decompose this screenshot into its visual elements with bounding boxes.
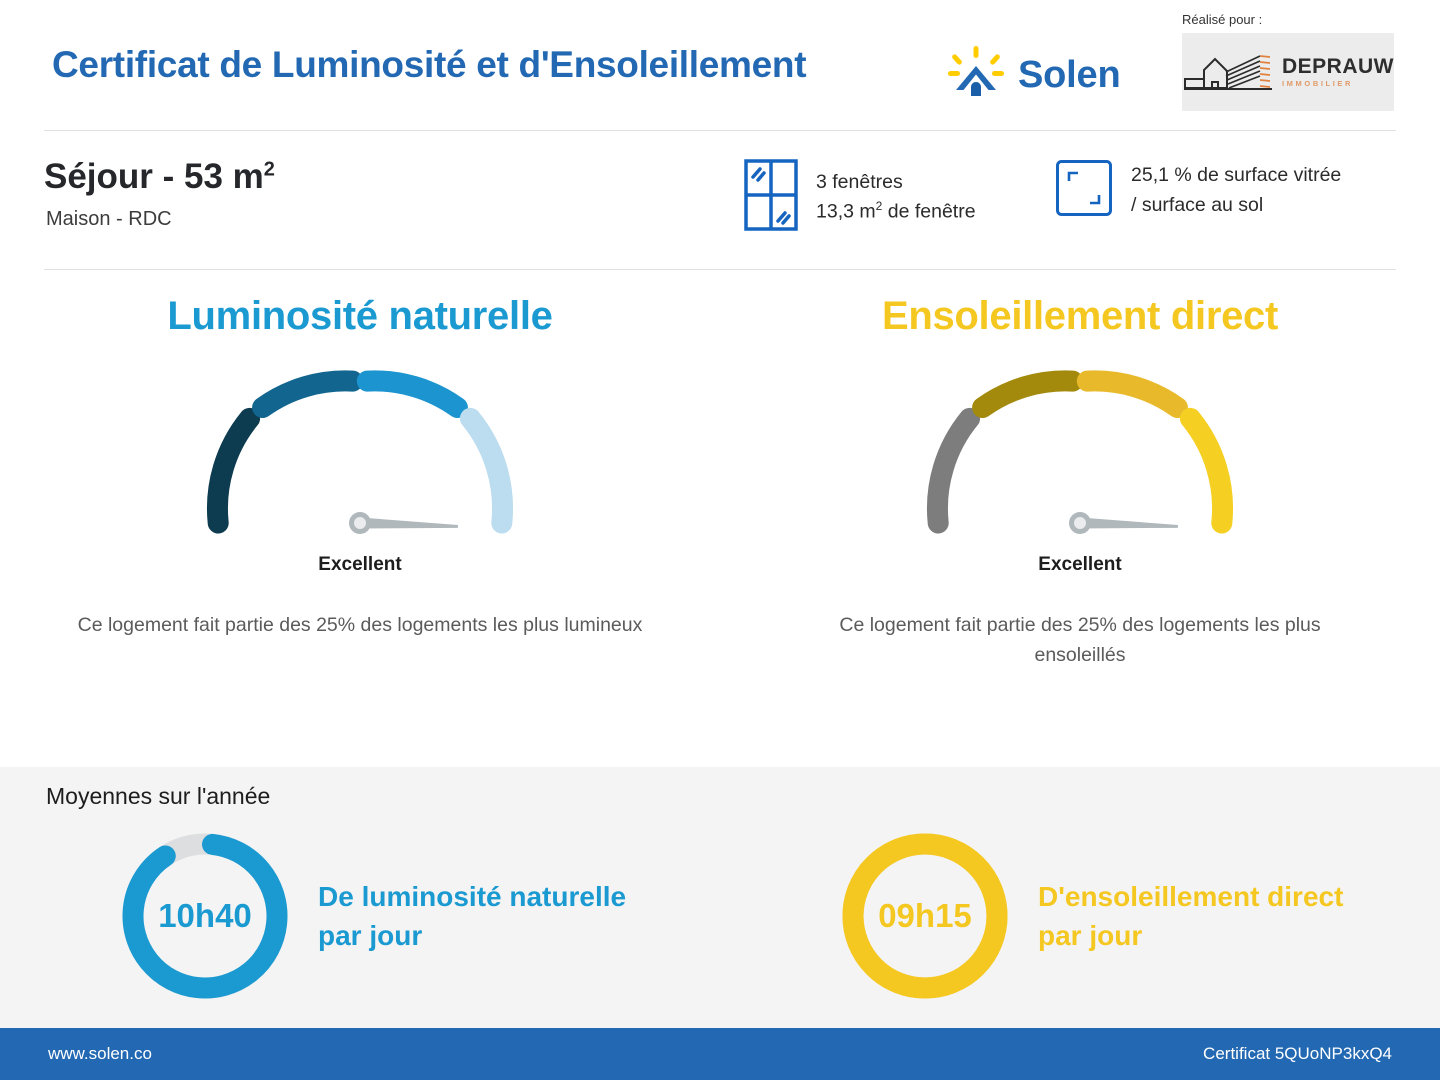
footer-website[interactable]: www.solen.co (48, 1044, 152, 1064)
partner-logo: DEPRAUW IMMOBILIER (1182, 33, 1394, 111)
gauge-rating-ensoleillement: Excellent (1038, 554, 1121, 576)
gauge-chart-ensoleillement (900, 351, 1260, 546)
stat-window-area-suffix: de fenêtre (882, 201, 975, 223)
averages-section: Moyennes sur l'année 10h40 De luminosité… (0, 767, 1440, 1028)
gauge-needle-ensoleillement (1069, 512, 1179, 538)
donut-value-luminosite: 10h40 (118, 829, 292, 1003)
average-label-ensoleillement: D'ensoleillement direct par jour (1038, 877, 1343, 955)
room-title-text: Séjour - 53 m (44, 157, 264, 196)
page-header: Certificat de Luminosité et d'Ensoleille… (0, 0, 1440, 130)
room-title: Séjour - 53 m2 (44, 157, 275, 197)
gauge-title-ensoleillement: Ensoleillement direct (882, 294, 1278, 339)
gauge-segment-3 (1087, 381, 1177, 408)
stat-glazing-line1: 25,1 % de surface vitrée (1131, 161, 1341, 190)
averages-title: Moyennes sur l'année (46, 783, 270, 810)
gauge-needle-luminosite (349, 512, 459, 538)
gauge-rating-luminosite: Excellent (318, 554, 401, 576)
certificate-page: Certificat de Luminosité et d'Ensoleille… (0, 0, 1440, 1080)
gauge-segment-4 (1190, 418, 1222, 523)
partner-name: DEPRAUW (1282, 56, 1394, 77)
stat-windows-text: 3 fenêtres 13,3 m2 de fenêtre (816, 168, 976, 227)
window-icon (744, 159, 798, 236)
page-title: Certificat de Luminosité et d'Ensoleille… (52, 44, 806, 86)
solen-brand: Solen (948, 46, 1120, 105)
average-label-luminosite: De luminosité naturelle par jour (318, 877, 626, 955)
average-label-line2: par jour (1038, 916, 1343, 955)
footer-certificate-id: Certificat 5QUoNP3kxQ4 (1203, 1044, 1392, 1064)
stat-glazing-text: 25,1 % de surface vitrée / surface au so… (1131, 161, 1341, 220)
average-item-ensoleillement: 09h15 D'ensoleillement direct par jour (720, 829, 1440, 1003)
gauge-segment-2 (263, 381, 353, 408)
gauge-title-luminosite: Luminosité naturelle (167, 294, 552, 339)
sun-house-icon (948, 46, 1004, 105)
average-item-luminosite: 10h40 De luminosité naturelle par jour (0, 829, 720, 1003)
gauge-ensoleillement: Ensoleillement direct Excel (720, 270, 1440, 767)
partner-caption: Réalisé pour : (1182, 12, 1394, 27)
room-title-exponent: 2 (264, 158, 275, 180)
gauges-section: Luminosité naturelle Excell (0, 270, 1440, 767)
donut-value-ensoleillement: 09h15 (838, 829, 1012, 1003)
averages-items: 10h40 De luminosité naturelle par jour 0… (0, 829, 1440, 1003)
gauge-segment-4 (470, 418, 502, 523)
gauge-segment-2 (983, 381, 1073, 408)
stat-glazing-ratio: 25,1 % de surface vitrée / surface au so… (1055, 159, 1341, 222)
average-label-line2: par jour (318, 916, 626, 955)
gauge-segment-3 (367, 381, 457, 408)
gauge-segment-1 (217, 418, 249, 523)
gauge-description-ensoleillement: Ce logement fait partie des 25% des loge… (795, 610, 1365, 670)
gauge-luminosite: Luminosité naturelle Excell (0, 270, 720, 767)
partner-subtitle: IMMOBILIER (1282, 80, 1394, 88)
brand-name: Solen (1018, 54, 1120, 97)
stat-window-area-value: 13,3 m (816, 201, 876, 223)
partner-block: Réalisé pour : (1182, 12, 1394, 111)
stat-windows: 3 fenêtres 13,3 m2 de fenêtre (744, 159, 976, 236)
stat-windows-line2: 13,3 m2 de fenêtre (816, 197, 976, 227)
stat-windows-line1: 3 fenêtres (816, 168, 976, 197)
room-info-section: Séjour - 53 m2 Maison - RDC 3 f (0, 131, 1440, 269)
gauge-description-luminosite: Ce logement fait partie des 25% des loge… (75, 610, 645, 640)
stat-glazing-line2: / surface au sol (1131, 191, 1341, 220)
donut-ensoleillement: 09h15 (838, 829, 1012, 1003)
page-footer: www.solen.co Certificat 5QUoNP3kxQ4 (0, 1028, 1440, 1080)
donut-luminosite: 10h40 (118, 829, 292, 1003)
average-label-line1: De luminosité naturelle (318, 877, 626, 916)
gauge-chart-luminosite (180, 351, 540, 546)
average-label-line1: D'ensoleillement direct (1038, 877, 1343, 916)
gauge-segment-1 (937, 418, 969, 523)
room-subtitle: Maison - RDC (46, 208, 172, 231)
partner-building-icon (1182, 48, 1278, 96)
floor-area-icon (1055, 159, 1113, 222)
